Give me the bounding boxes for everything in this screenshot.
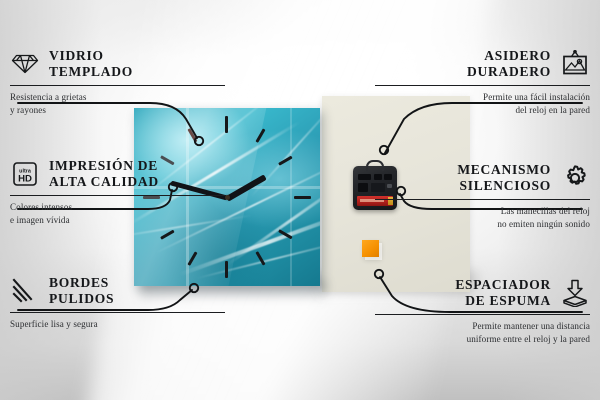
feature-subtitle: Colores intensos e imagen vívida xyxy=(10,201,225,226)
feature-subtitle: Permite una fácil instalación del reloj … xyxy=(375,91,590,116)
diamond-icon xyxy=(10,49,40,79)
feature-title: MECANISMO SILENCIOSO xyxy=(457,162,551,195)
feature-header: BORDES PULIDOS xyxy=(10,275,225,308)
gear-icon xyxy=(560,163,590,193)
feature-title: BORDES PULIDOS xyxy=(49,275,114,308)
feature-divider xyxy=(375,199,590,200)
ultra-hd-bottom-text: HD xyxy=(18,174,32,185)
feature-title: IMPRESIÓN DE ALTA CALIDAD xyxy=(49,158,159,191)
feature-vidrio-templado[interactable]: VIDRIO TEMPLADO Resistencia a grietas y … xyxy=(10,48,225,116)
polished-edges-icon xyxy=(10,276,40,306)
feature-subtitle: Superficie lisa y segura xyxy=(10,318,225,330)
infographic-canvas: VIDRIO TEMPLADO Resistencia a grietas y … xyxy=(0,0,600,400)
feature-divider xyxy=(10,85,225,86)
feature-asidero-duradero[interactable]: ASIDERO DURADERO Permite una fácil insta… xyxy=(375,48,590,116)
glass-seam xyxy=(290,108,292,286)
feature-bordes-pulidos[interactable]: BORDES PULIDOS Superficie lisa y segura xyxy=(10,275,225,331)
clock-hub xyxy=(225,195,230,200)
feature-header: VIDRIO TEMPLADO xyxy=(10,48,225,81)
hour-tick-12 xyxy=(225,116,228,133)
mechanism-detail xyxy=(358,174,371,180)
foam-spacer xyxy=(362,240,379,257)
hour-tick-3 xyxy=(294,196,311,199)
framed-picture-hanger-icon xyxy=(560,49,590,79)
feature-title: ESPACIADOR DE ESPUMA xyxy=(455,277,551,310)
ultra-hd-badge-icon: ultra HD xyxy=(10,159,40,189)
feature-title: ASIDERO DURADERO xyxy=(467,48,551,81)
feature-mecanismo-silencioso[interactable]: MECANISMO SILENCIOSO Las manecillas del … xyxy=(375,162,590,230)
hour-tick-6 xyxy=(225,261,228,278)
feature-subtitle: Permite mantener una distancia uniforme … xyxy=(375,320,590,345)
feature-header: ultra HD IMPRESIÓN DE ALTA CALIDAD xyxy=(10,158,225,191)
feature-subtitle: Resistencia a grietas y rayones xyxy=(10,91,225,116)
press-down-pad-icon xyxy=(560,278,590,308)
feature-divider xyxy=(10,195,225,196)
feature-divider xyxy=(375,85,590,86)
feature-header: ASIDERO DURADERO xyxy=(375,48,590,81)
feature-subtitle: Las manecillas del reloj no emiten ningú… xyxy=(375,205,590,230)
feature-header: ESPACIADOR DE ESPUMA xyxy=(375,277,590,310)
feature-divider xyxy=(10,312,225,313)
feature-espaciador-de-espuma[interactable]: ESPACIADOR DE ESPUMA Permite mantener un… xyxy=(375,277,590,345)
feature-title: VIDRIO TEMPLADO xyxy=(49,48,133,81)
feature-impresion-alta-calidad[interactable]: ultra HD IMPRESIÓN DE ALTA CALIDAD Color… xyxy=(10,158,225,226)
feature-divider xyxy=(375,314,590,315)
mechanism-detail xyxy=(358,183,368,192)
feature-header: MECANISMO SILENCIOSO xyxy=(375,162,590,195)
